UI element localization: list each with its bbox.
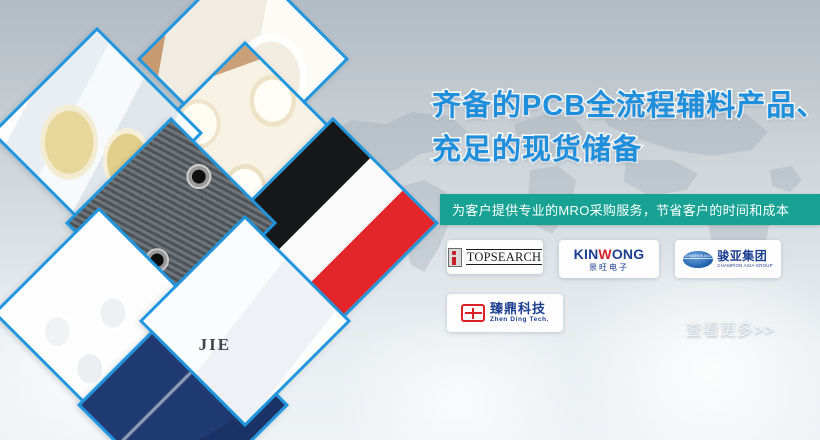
client-logo-kinwong[interactable]: KINWONG 景旺电子 — [559, 240, 659, 278]
topsearch-mark-icon — [448, 248, 462, 267]
view-more-link[interactable]: 查看更多>> — [686, 316, 775, 340]
banner-headline: 齐备的PCB全流程辅料产品、 充足的现货储备 — [432, 84, 820, 172]
globe-icon — [683, 251, 713, 268]
banner-subtitle-text: 为客户提供专业的MRO采购服务，节省客户的时间和成本 — [440, 200, 789, 219]
kinwong-wordmark: KINWONG — [574, 247, 645, 261]
kinwong-text-w: W — [598, 246, 611, 262]
product-photo-collage — [0, 0, 420, 440]
topsearch-label: TOPSEARCH — [466, 249, 543, 265]
kinwong-label-cn: 景旺电子 — [574, 264, 645, 272]
banner-subtitle-bar: 为客户提供专业的MRO采购服务，节省客户的时间和成本 — [440, 194, 820, 225]
client-logo-champion-asia[interactable]: 骏亚集团 CHAMPION ASIA GROUP — [675, 240, 781, 278]
champion-label-en: CHAMPION ASIA GROUP — [717, 264, 773, 268]
champion-label-cn: 骏亚集团 — [717, 250, 773, 262]
client-logo-topsearch[interactable]: TOPSEARCH — [447, 240, 543, 274]
promo-banner: 齐备的PCB全流程辅料产品、 充足的现货储备 为客户提供专业的MRO采购服务，节… — [0, 0, 820, 440]
client-logo-zhen-ding[interactable]: 臻鼎科技 Zhen Ding Tech. — [447, 294, 563, 332]
zhen-ding-mark-icon — [461, 304, 485, 322]
zhen-ding-label-cn: 臻鼎科技 — [490, 302, 549, 315]
kinwong-text-part-2: ONG — [612, 246, 645, 262]
kinwong-text-part-1: KIN — [574, 246, 599, 262]
headline-line-1: 齐备的PCB全流程辅料产品、 — [432, 84, 820, 128]
headline-line-2: 充足的现货储备 — [432, 128, 820, 172]
zhen-ding-label-en: Zhen Ding Tech. — [490, 317, 549, 324]
client-logo-row-1: TOPSEARCH KINWONG 景旺电子 骏亚集团 CHAMPION ASI… — [447, 240, 820, 278]
